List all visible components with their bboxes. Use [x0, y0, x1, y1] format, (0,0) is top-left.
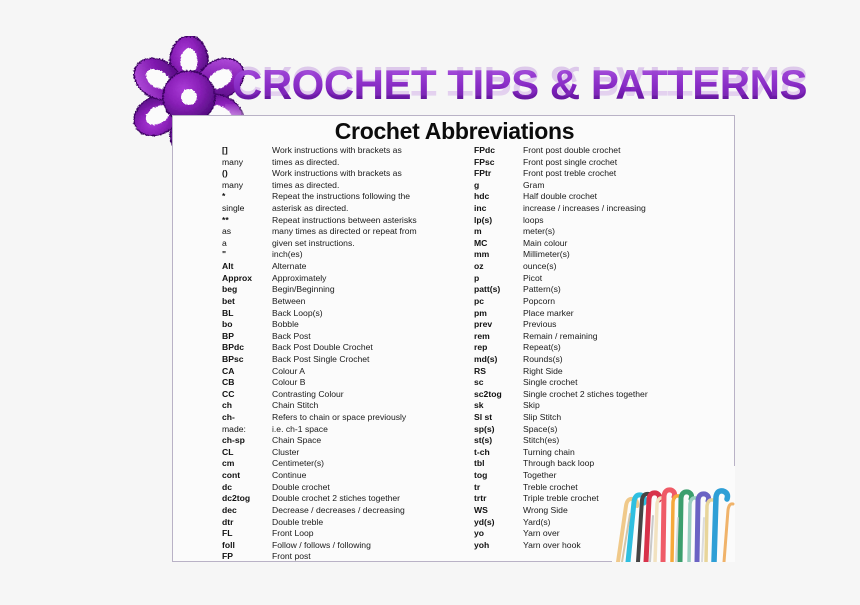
abbreviation-term: cm [222, 458, 272, 470]
abbreviation-term: BL [222, 308, 272, 320]
abbreviation-term: CL [222, 447, 272, 459]
abbreviation-row: Sl stSlip Stitch [474, 412, 724, 424]
abbreviation-definition: many times as directed or repeat from [272, 226, 417, 238]
abbreviation-definition: Back Post [272, 331, 311, 343]
abbreviation-term: [] [222, 145, 272, 157]
abbreviation-definition: Yarn over [523, 528, 560, 540]
abbreviation-row: ch-Refers to chain or space previously [222, 412, 450, 424]
abbreviation-row: prevPrevious [474, 319, 724, 331]
abbreviation-row: pmPlace marker [474, 308, 724, 320]
abbreviation-definition: Contrasting Colour [272, 389, 344, 401]
abbreviation-term: md(s) [474, 354, 523, 366]
abbreviation-term: tbl [474, 458, 523, 470]
abbreviation-term: m [474, 226, 523, 238]
abbreviation-row: repRepeat(s) [474, 342, 724, 354]
abbreviation-term: dec [222, 505, 272, 517]
abbreviation-row: CCContrasting Colour [222, 389, 450, 401]
abbreviation-term: dc [222, 482, 272, 494]
abbreviation-row: CBColour B [222, 377, 450, 389]
crochet-hooks-photo [612, 466, 735, 562]
abbreviation-term: hdc [474, 191, 523, 203]
abbreviation-definition: Chain Stitch [272, 400, 318, 412]
abbreviation-row: dc2togDouble crochet 2 stiches together [222, 493, 450, 505]
abbreviation-row: RSRight Side [474, 366, 724, 378]
abbreviation-row: cmCentimeter(s) [222, 458, 450, 470]
abbreviation-definition: Stitch(es) [523, 435, 559, 447]
abbreviation-term: ** [222, 215, 272, 227]
abbreviation-definition: Front post treble crochet [523, 168, 616, 180]
abbreviation-row: boBobble [222, 319, 450, 331]
abbreviation-row: pPicot [474, 273, 724, 285]
abbreviation-definition: Refers to chain or space previously [272, 412, 406, 424]
abbreviation-term: CC [222, 389, 272, 401]
abbreviation-term: st(s) [474, 435, 523, 447]
abbreviation-definition: Double crochet [272, 482, 330, 494]
abbreviation-row: decDecrease / decreases / decreasing [222, 505, 450, 517]
abbreviation-definition: Pattern(s) [523, 284, 561, 296]
abbreviation-definition: Colour A [272, 366, 305, 378]
abbreviation-term: WS [474, 505, 523, 517]
abbreviation-definition: Begin/Beginning [272, 284, 335, 296]
banner: CROCHET TIPS & PATTERNS CROCHET TIPS & P… [0, 0, 860, 125]
abbreviation-definition: Back Post Single Crochet [272, 354, 369, 366]
abbreviation-row: CLCluster [222, 447, 450, 459]
card-heading: Crochet Abbreviations [173, 118, 736, 145]
abbreviation-row: md(s)Rounds(s) [474, 354, 724, 366]
abbreviation-term: inc [474, 203, 523, 215]
abbreviation-term: BP [222, 331, 272, 343]
abbreviation-definition: Alternate [272, 261, 306, 273]
abbreviation-row: AltAlternate [222, 261, 450, 273]
abbreviation-term: many [222, 157, 272, 169]
abbreviation-row: []Work instructions with brackets as [222, 145, 450, 157]
abbreviation-row: BPBack Post [222, 331, 450, 343]
abbreviation-definition: Skip [523, 400, 540, 412]
abbreviation-definition: Front post double crochet [523, 145, 620, 157]
abbreviation-definition: Front post [272, 551, 311, 563]
abbreviation-row: lp(s)loops [474, 215, 724, 227]
abbreviation-row: contContinue [222, 470, 450, 482]
abbreviation-term: FL [222, 528, 272, 540]
abbreviation-term: () [222, 168, 272, 180]
abbreviation-definition: Centimeter(s) [272, 458, 324, 470]
abbreviation-term: many [222, 180, 272, 192]
abbreviation-definition: Cluster [272, 447, 299, 459]
abbreviation-row: agiven set instructions. [222, 238, 450, 250]
abbreviation-term: dtr [222, 517, 272, 529]
abbreviations-left-column: []Work instructions with brackets asmany… [222, 145, 450, 563]
abbreviation-row: FPscFront post single crochet [474, 157, 724, 169]
abbreviation-term: * [222, 191, 272, 203]
abbreviation-term: sc2tog [474, 389, 523, 401]
abbreviation-definition: inch(es) [272, 249, 303, 261]
abbreviation-row: asmany times as directed or repeat from [222, 226, 450, 238]
abbreviation-definition: Single crochet [523, 377, 577, 389]
abbreviation-definition: Yard(s) [523, 517, 551, 529]
abbreviation-definition: Remain / remaining [523, 331, 598, 343]
abbreviation-definition: Work instructions with brackets as [272, 168, 402, 180]
abbreviation-row: "inch(es) [222, 249, 450, 261]
abbreviation-definition: Picot [523, 273, 542, 285]
abbreviation-term: FPdc [474, 145, 523, 157]
abbreviation-definition: meter(s) [523, 226, 555, 238]
abbreviation-definition: Bobble [272, 319, 299, 331]
abbreviation-definition: Wrong Side [523, 505, 568, 517]
abbreviation-term: oz [474, 261, 523, 273]
abbreviation-definition: Colour B [272, 377, 305, 389]
abbreviation-definition: Back Loop(s) [272, 308, 323, 320]
abbreviation-term: dc2tog [222, 493, 272, 505]
abbreviation-term: BPsc [222, 354, 272, 366]
abbreviation-term: single [222, 203, 272, 215]
abbreviation-definition: Through back loop [523, 458, 594, 470]
abbreviation-term: ch [222, 400, 272, 412]
abbreviation-term: yo [474, 528, 523, 540]
abbreviation-definition: Repeat the instructions following the [272, 191, 410, 203]
abbreviation-definition: Single crochet 2 stiches together [523, 389, 648, 401]
abbreviation-term: FPtr [474, 168, 523, 180]
abbreviation-row: FPtrFront post treble crochet [474, 168, 724, 180]
abbreviation-row: dcDouble crochet [222, 482, 450, 494]
abbreviation-term: RS [474, 366, 523, 378]
abbreviation-term: mm [474, 249, 523, 261]
abbreviation-definition: Place marker [523, 308, 574, 320]
abbreviation-definition: increase / increases / increasing [523, 203, 646, 215]
abbreviation-row: **Repeat instructions between asterisks [222, 215, 450, 227]
abbreviation-definition: Previous [523, 319, 556, 331]
abbreviation-term: " [222, 249, 272, 261]
abbreviation-term: pm [474, 308, 523, 320]
page-title: CROCHET TIPS & PATTERNS [232, 62, 807, 108]
abbreviation-definition: times as directed. [272, 180, 339, 192]
abbreviation-term: ch- [222, 412, 272, 424]
abbreviation-definition: asterisk as directed. [272, 203, 348, 215]
abbreviation-term: made: [222, 424, 272, 436]
abbreviation-term: cont [222, 470, 272, 482]
abbreviation-row: begBegin/Beginning [222, 284, 450, 296]
abbreviation-row: ch-spChain Space [222, 435, 450, 447]
abbreviation-definition: Rounds(s) [523, 354, 563, 366]
abbreviation-term: sc [474, 377, 523, 389]
abbreviation-term: rep [474, 342, 523, 354]
abbreviation-row: hdcHalf double crochet [474, 191, 724, 203]
abbreviation-row: BPscBack Post Single Crochet [222, 354, 450, 366]
abbreviation-row: chChain Stitch [222, 400, 450, 412]
abbreviation-row: skSkip [474, 400, 724, 412]
abbreviation-term: CA [222, 366, 272, 378]
abbreviation-definition: Double treble [272, 517, 323, 529]
abbreviation-definition: times as directed. [272, 157, 339, 169]
abbreviation-definition: loops [523, 215, 544, 227]
abbreviation-definition: Millimeter(s) [523, 249, 570, 261]
abbreviation-definition: Together [523, 470, 556, 482]
abbreviation-definition: Repeat instructions between asterisks [272, 215, 417, 227]
abbreviation-row: dtrDouble treble [222, 517, 450, 529]
abbreviation-term: yd(s) [474, 517, 523, 529]
abbreviation-definition: Double crochet 2 stiches together [272, 493, 400, 505]
abbreviation-row: ()Work instructions with brackets as [222, 168, 450, 180]
abbreviation-term: as [222, 226, 272, 238]
abbreviation-term: MC [474, 238, 523, 250]
abbreviation-row: ApproxApproximately [222, 273, 450, 285]
abbreviation-term: foll [222, 540, 272, 552]
abbreviation-term: Alt [222, 261, 272, 273]
abbreviation-row: BPdcBack Post Double Crochet [222, 342, 450, 354]
abbreviation-definition: Continue [272, 470, 306, 482]
abbreviation-term: ch-sp [222, 435, 272, 447]
abbreviation-row: MCMain colour [474, 238, 724, 250]
abbreviation-term: lp(s) [474, 215, 523, 227]
abbreviation-row: sc2togSingle crochet 2 stiches together [474, 389, 724, 401]
abbreviation-term: patt(s) [474, 284, 523, 296]
abbreviation-definition: Between [272, 296, 305, 308]
abbreviation-definition: Chain Space [272, 435, 321, 447]
abbreviation-term: beg [222, 284, 272, 296]
abbreviation-row: scSingle crochet [474, 377, 724, 389]
abbreviation-definition: Follow / follows / following [272, 540, 371, 552]
abbreviation-term: CB [222, 377, 272, 389]
abbreviation-definition: Treble crochet [523, 482, 578, 494]
abbreviation-term: p [474, 273, 523, 285]
abbreviation-row: mmeter(s) [474, 226, 724, 238]
abbreviation-term: a [222, 238, 272, 250]
abbreviation-term: yoh [474, 540, 523, 552]
abbreviation-term: Sl st [474, 412, 523, 424]
abbreviation-definition: Work instructions with brackets as [272, 145, 402, 157]
abbreviation-definition: Slip Stitch [523, 412, 561, 424]
abbreviation-row: patt(s)Pattern(s) [474, 284, 724, 296]
abbreviation-term: Approx [222, 273, 272, 285]
abbreviation-term: BPdc [222, 342, 272, 354]
abbreviations-card: Crochet Abbreviations []Work instruction… [172, 115, 735, 562]
abbreviation-term: sk [474, 400, 523, 412]
abbreviation-row: st(s)Stitch(es) [474, 435, 724, 447]
abbreviation-row: betBetween [222, 296, 450, 308]
abbreviation-term: rem [474, 331, 523, 343]
abbreviation-row: ozounce(s) [474, 261, 724, 273]
abbreviation-definition: i.e. ch-1 space [272, 424, 328, 436]
abbreviation-term: bo [222, 319, 272, 331]
abbreviation-row: CAColour A [222, 366, 450, 378]
abbreviation-term: pc [474, 296, 523, 308]
abbreviation-row: pcPopcorn [474, 296, 724, 308]
abbreviation-row: FLFront Loop [222, 528, 450, 540]
abbreviation-definition: Decrease / decreases / decreasing [272, 505, 405, 517]
abbreviation-definition: Repeat(s) [523, 342, 561, 354]
abbreviation-definition: ounce(s) [523, 261, 556, 273]
abbreviation-definition: Space(s) [523, 424, 557, 436]
abbreviation-row: remRemain / remaining [474, 331, 724, 343]
abbreviation-definition: Right Side [523, 366, 563, 378]
abbreviation-definition: Yarn over hook [523, 540, 581, 552]
abbreviation-row: incincrease / increases / increasing [474, 203, 724, 215]
abbreviation-row: follFollow / follows / following [222, 540, 450, 552]
abbreviation-term: trtr [474, 493, 523, 505]
abbreviation-term: FPsc [474, 157, 523, 169]
abbreviation-term: FP [222, 551, 272, 563]
abbreviation-row: manytimes as directed. [222, 180, 450, 192]
abbreviation-definition: Turning chain [523, 447, 575, 459]
abbreviation-term: prev [474, 319, 523, 331]
abbreviation-definition: Front post single crochet [523, 157, 617, 169]
abbreviation-row: manytimes as directed. [222, 157, 450, 169]
abbreviation-term: bet [222, 296, 272, 308]
abbreviation-definition: Back Post Double Crochet [272, 342, 373, 354]
abbreviation-term: t-ch [474, 447, 523, 459]
abbreviation-row: sp(s)Space(s) [474, 424, 724, 436]
abbreviation-definition: Triple treble crochet [523, 493, 599, 505]
abbreviation-definition: Gram [523, 180, 544, 192]
abbreviation-term: g [474, 180, 523, 192]
abbreviation-row: t-chTurning chain [474, 447, 724, 459]
abbreviation-row: FPFront post [222, 551, 450, 563]
abbreviation-row: gGram [474, 180, 724, 192]
abbreviation-definition: given set instructions. [272, 238, 355, 250]
abbreviation-term: tr [474, 482, 523, 494]
abbreviation-definition: Approximately [272, 273, 326, 285]
abbreviation-definition: Front Loop [272, 528, 314, 540]
abbreviation-row: *Repeat the instructions following the [222, 191, 450, 203]
abbreviation-definition: Popcorn [523, 296, 555, 308]
abbreviation-row: made:i.e. ch-1 space [222, 424, 450, 436]
abbreviation-row: BLBack Loop(s) [222, 308, 450, 320]
abbreviation-term: sp(s) [474, 424, 523, 436]
abbreviation-definition: Main colour [523, 238, 567, 250]
abbreviation-row: singleasterisk as directed. [222, 203, 450, 215]
abbreviation-term: tog [474, 470, 523, 482]
abbreviation-definition: Half double crochet [523, 191, 597, 203]
abbreviation-row: FPdcFront post double crochet [474, 145, 724, 157]
abbreviation-row: mmMillimeter(s) [474, 249, 724, 261]
